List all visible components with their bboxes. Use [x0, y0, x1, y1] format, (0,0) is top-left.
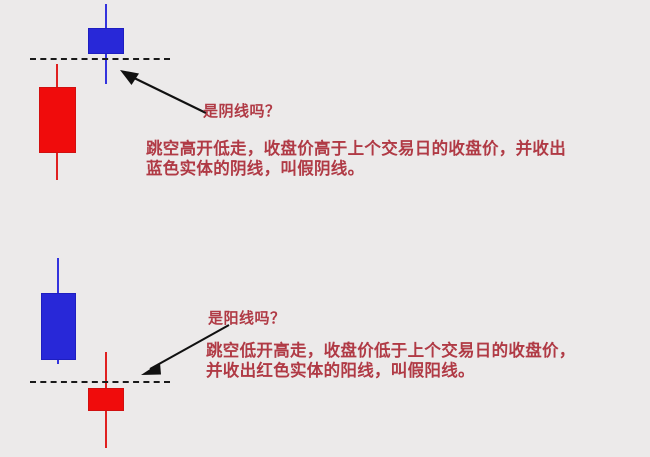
bottom-explanation-line-2: 并收出红色实体的阳线，叫假阳线。 [206, 361, 576, 381]
top-reference-dashed-line [30, 58, 170, 60]
bottom-reference-dashed-line [30, 381, 170, 383]
top-explanation-text: 跳空高开低走，收盘价高于上个交易日的收盘价，并收出 蓝色实体的阴线，叫假阴线。 [146, 139, 566, 179]
prior-blue-candle-body [41, 293, 76, 360]
bottom-question-label: 是阳线吗？ [208, 311, 286, 327]
prior-red-candle-body [39, 87, 76, 153]
bottom-explanation-text: 跳空低开高走，收盘价低于上个交易日的收盘价， 并收出红色实体的阳线，叫假阳线。 [206, 341, 576, 381]
gap-up-blue-candle-body [88, 28, 124, 54]
bottom-explanation-line-1: 跳空低开高走，收盘价低于上个交易日的收盘价， [206, 341, 576, 361]
top-explanation-line-1: 跳空高开低走，收盘价高于上个交易日的收盘价，并收出 [146, 139, 566, 159]
top-question-label: 是阴线吗？ [203, 104, 281, 120]
candlestick-diagram-canvas: 是阴线吗？ 跳空高开低走，收盘价高于上个交易日的收盘价，并收出 蓝色实体的阴线，… [0, 0, 650, 457]
gap-down-red-candle-body [88, 388, 124, 411]
top-explanation-line-2: 蓝色实体的阴线，叫假阴线。 [146, 159, 566, 179]
